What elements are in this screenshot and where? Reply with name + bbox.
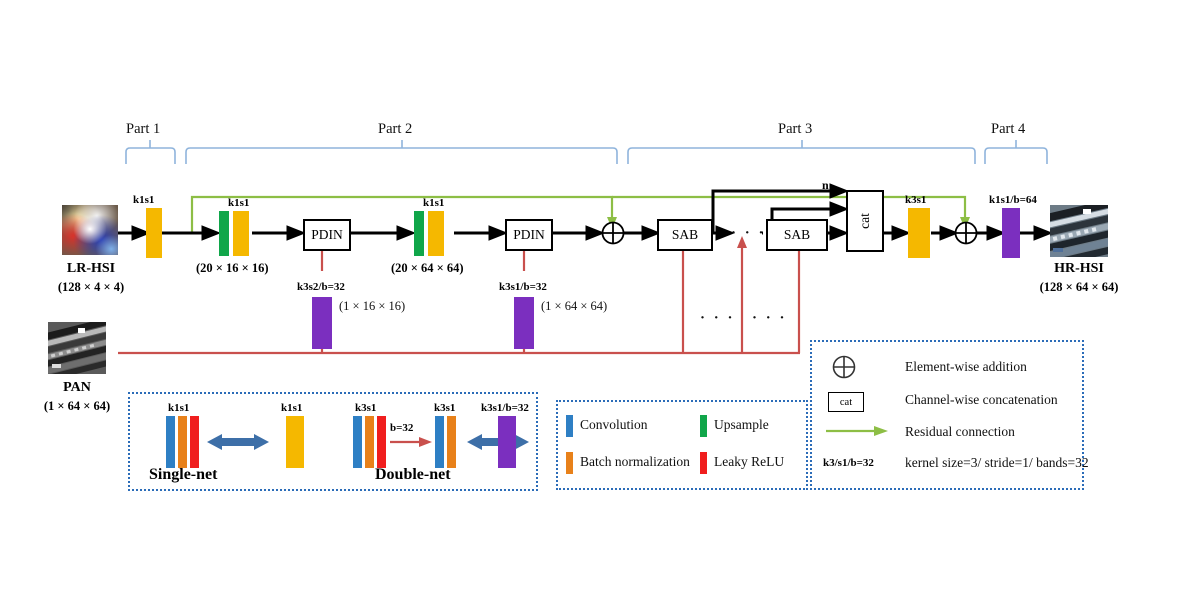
hr-hsi-label: HR-HSI xyxy=(1044,261,1114,277)
symbol-legend-label-residual: Residual connection xyxy=(905,424,1015,440)
sab-block-2[interactable]: SAB xyxy=(766,219,828,251)
pan-conv-2-dims: (1 × 64 × 64) xyxy=(541,299,607,314)
single-net-equivalent-block xyxy=(286,416,304,468)
single-net-bn-bar xyxy=(178,416,187,468)
single-net-left-kernel-label: k1s1 xyxy=(168,402,189,414)
pan-conv-2-kernel-label: k3s1/b=32 xyxy=(499,281,547,293)
legend-label-batchnorm: Batch normalization xyxy=(580,454,690,470)
color-legend-panel xyxy=(556,400,808,490)
hr-hsi-thumbnail xyxy=(1050,205,1108,257)
pan-conv-1-dims: (1 × 16 × 16) xyxy=(339,299,405,314)
legend-swatch-leakyrelu xyxy=(700,452,707,474)
sab-1-label: SAB xyxy=(672,227,698,243)
double-net-relu-bar-1 xyxy=(377,416,386,468)
pan-thumbnail xyxy=(48,322,106,374)
sab-2-label: SAB xyxy=(784,227,810,243)
legend-swatch-batchnorm xyxy=(566,452,573,474)
single-net-equivalence-arrow-icon xyxy=(207,431,269,453)
pan-branch-dots-2: · · · xyxy=(752,310,787,327)
n-count-label: n xyxy=(822,178,829,193)
cat-box-icon: cat xyxy=(828,392,864,412)
legend-swatch-convolution xyxy=(566,415,573,437)
upsample-block-2 xyxy=(414,211,424,256)
pdin-block-1[interactable]: PDIN xyxy=(303,219,351,251)
legend-label-upsample: Upsample xyxy=(714,417,769,433)
concatenation-block[interactable]: cat xyxy=(846,190,884,252)
sab-block-1[interactable]: SAB xyxy=(657,219,713,251)
cat-box-icon-label: cat xyxy=(840,397,852,408)
pdin-block-2[interactable]: PDIN xyxy=(505,219,553,251)
part-1-label: Part 1 xyxy=(126,121,160,138)
pdin-1-label: PDIN xyxy=(311,227,343,243)
double-net-mid-kernel-label: k3s1 xyxy=(434,402,455,414)
part-2-label: Part 2 xyxy=(378,121,412,138)
final-conv-block xyxy=(1002,208,1020,258)
part-3-label: Part 3 xyxy=(778,121,812,138)
pan-conv-block-1 xyxy=(312,297,332,349)
sab-chain-dots-1: · · · xyxy=(731,225,766,242)
lr-hsi-thumbnail xyxy=(62,205,118,255)
up2-dims-label: (20 × 64 × 64) xyxy=(391,261,464,276)
elementwise-add-1-icon xyxy=(600,221,626,247)
final-conv-kernel-label: k1s1/b=64 xyxy=(989,194,1037,206)
hr-hsi-dims: (128 × 64 × 64) xyxy=(1024,280,1134,295)
double-net-bn-bar-1 xyxy=(365,416,374,468)
lr-hsi-dims: (128 × 4 × 4) xyxy=(36,280,146,295)
pan-branch-dots-1: · · · xyxy=(700,310,735,327)
elementwise-add-2-icon xyxy=(953,221,979,247)
single-net-right-kernel-label: k1s1 xyxy=(281,402,302,414)
double-net-b-label: b=32 xyxy=(390,422,413,434)
legend-label-leakyrelu: Leaky ReLU xyxy=(714,454,784,470)
single-net-conv-bar xyxy=(166,416,175,468)
double-net-name: Double-net xyxy=(375,466,451,484)
single-net-name: Single-net xyxy=(149,466,217,484)
double-net-b-arrow-icon xyxy=(390,436,432,448)
conv1-kernel-label: k1s1 xyxy=(133,194,154,206)
up1-kernel-label: k1s1 xyxy=(228,197,249,209)
double-net-bn-bar-2 xyxy=(447,416,456,468)
single-net-relu-bar xyxy=(190,416,199,468)
upsample-block-1 xyxy=(219,211,229,256)
part-4-label: Part 4 xyxy=(991,121,1025,138)
symbol-legend-label-concat: Channel-wise concatenation xyxy=(905,392,1058,408)
up1-dims-label: (20 × 16 × 16) xyxy=(196,261,269,276)
conv-block-k3s1-aftercat xyxy=(908,208,930,258)
legend-label-convolution: Convolution xyxy=(580,417,648,433)
conv-block-k1s1-part1 xyxy=(146,208,162,258)
circled-plus-icon xyxy=(831,354,857,380)
up2-kernel-label: k1s1 xyxy=(423,197,444,209)
lr-hsi-label: LR-HSI xyxy=(56,261,126,277)
symbol-legend-label-kernelnote: kernel size=3/ stride=1/ bands=32 xyxy=(905,455,1089,471)
pdin-2-label: PDIN xyxy=(513,227,545,243)
pan-label: PAN xyxy=(42,380,112,396)
double-net-equivalent-block xyxy=(498,416,516,468)
conv-aftercat-kernel-label: k3s1 xyxy=(905,194,926,206)
conv-block-1 xyxy=(233,211,249,256)
part-brackets xyxy=(110,140,1060,168)
pan-conv-1-kernel-label: k3s2/b=32 xyxy=(297,281,345,293)
pan-conv-block-2 xyxy=(514,297,534,349)
kernel-note-icon: k3/s1/b=32 xyxy=(823,457,874,469)
legend-swatch-upsample xyxy=(700,415,707,437)
double-net-right-kernel-label: k3s1/b=32 xyxy=(481,402,529,414)
diagram-canvas: Part 1 Part 2 Part 3 Part 4 xyxy=(0,0,1196,610)
double-net-left-kernel-label: k3s1 xyxy=(355,402,376,414)
double-net-conv-bar-1 xyxy=(353,416,362,468)
cat-label: cat xyxy=(857,213,873,229)
double-net-conv-bar-2 xyxy=(435,416,444,468)
symbol-legend-label-add: Element-wise addition xyxy=(905,359,1027,375)
conv-block-2 xyxy=(428,211,444,256)
pan-dims: (1 × 64 × 64) xyxy=(22,399,132,414)
green-arrow-icon xyxy=(826,424,888,438)
